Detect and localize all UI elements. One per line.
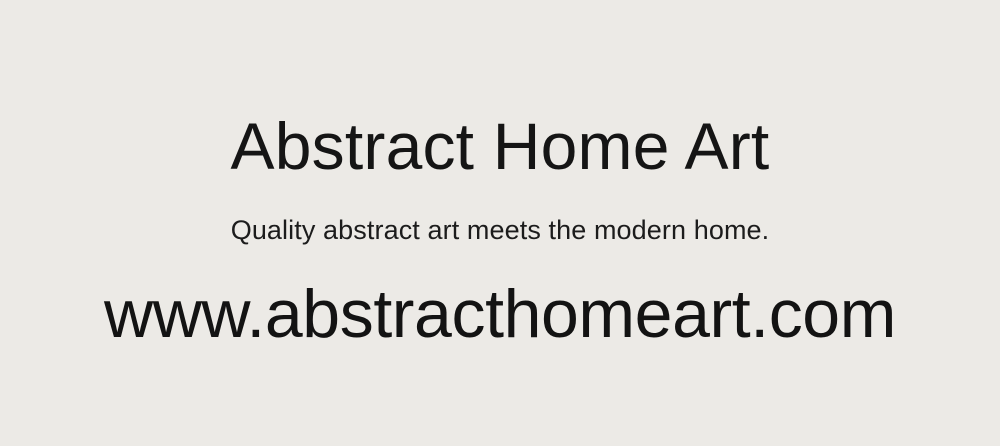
brand-tagline: Quality abstract art meets the modern ho… [0, 216, 1000, 246]
page-title: Abstract Home Art [0, 113, 1000, 179]
website-url-link[interactable]: www.abstracthomeart.com [0, 280, 1000, 348]
brand-card: Abstract Home Art Quality abstract art m… [0, 0, 1000, 446]
